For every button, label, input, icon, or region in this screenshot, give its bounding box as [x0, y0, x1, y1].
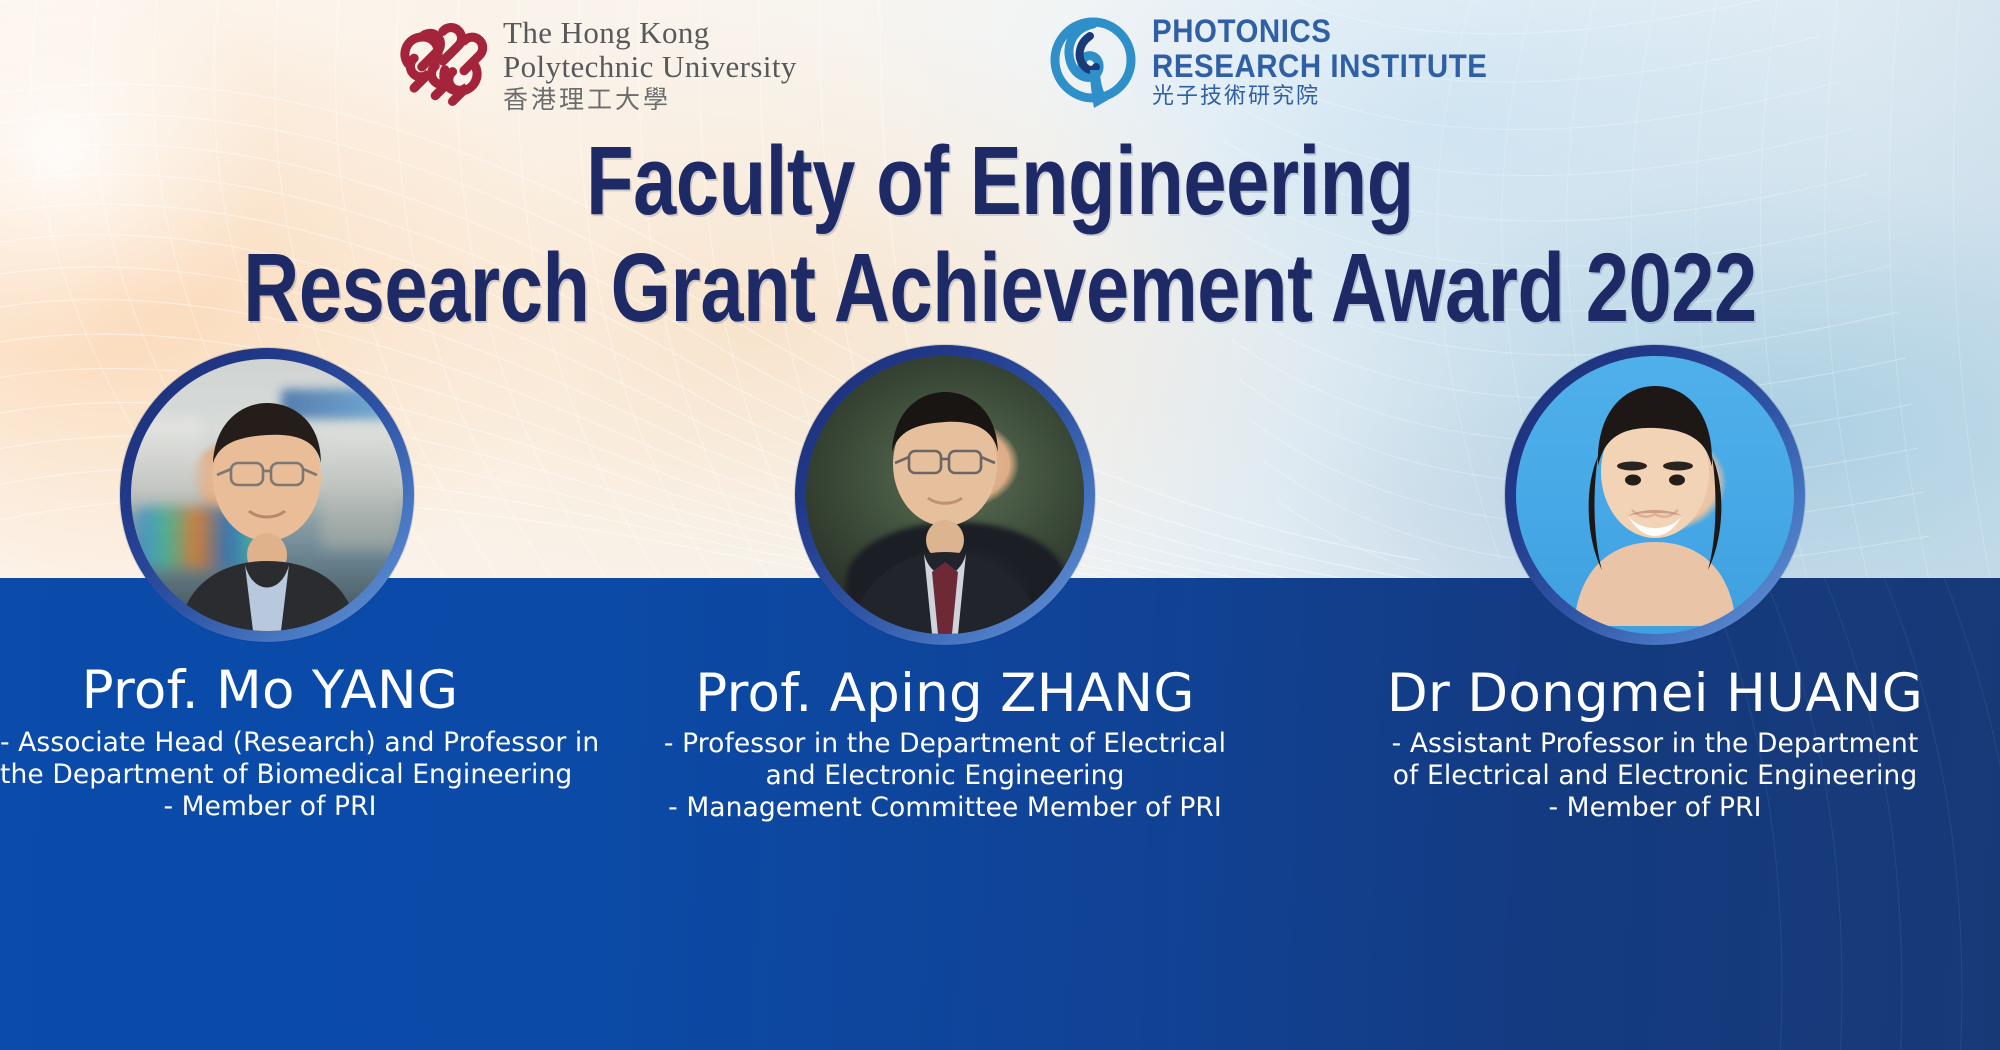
pri-logo: PHOTONICS RESEARCH INSTITUTE 光子技術研究院	[1050, 14, 1517, 110]
polyu-line2: Polytechnic University	[503, 51, 797, 82]
awardee-card-mo-yang: Prof. Mo YANG - Associate Head (Research…	[0, 348, 540, 822]
pri-line1: PHOTONICS	[1152, 15, 1487, 48]
caption-line: - Management Committee Member of PRI	[645, 792, 1245, 824]
caption-line: and Electronic Engineering	[645, 760, 1245, 792]
portrait-figure	[131, 359, 403, 631]
polyu-wordmark: The Hong Kong Polytechnic University 香港理…	[503, 17, 797, 112]
portrait-photo	[131, 359, 403, 631]
portrait-figure	[806, 356, 1084, 634]
caption-line: - Assistant Professor in the Department	[1325, 728, 1985, 760]
pri-line2: RESEARCH INSTITUTE	[1152, 50, 1487, 83]
awardee-name: Prof. Aping ZHANG	[645, 667, 1245, 720]
awardee-card-dongmei-huang: Dr Dongmei HUANG - Assistant Professor i…	[1325, 345, 1985, 823]
awardee-caption: - Assistant Professor in the Department …	[1325, 728, 1985, 823]
portrait-ring	[1505, 345, 1805, 645]
awardee-caption: - Associate Head (Research) and Professo…	[0, 727, 540, 822]
polyu-chinese: 香港理工大學	[503, 87, 797, 112]
caption-line: - Member of PRI	[1325, 792, 1985, 824]
title-line-1: Faculty of Engineering	[200, 132, 1800, 231]
award-poster: The Hong Kong Polytechnic University 香港理…	[0, 0, 2000, 1050]
polyu-logo: The Hong Kong Polytechnic University 香港理…	[393, 16, 797, 112]
title-line-2: Research Grant Achievement Award 2022	[200, 239, 1800, 338]
logo-row: The Hong Kong Polytechnic University 香港理…	[0, 0, 2000, 128]
portrait-mo-yang	[131, 359, 403, 631]
portrait-ring	[795, 345, 1095, 645]
caption-line: of Electrical and Electronic Engineering	[1325, 760, 1985, 792]
awardee-name: Dr Dongmei HUANG	[1325, 667, 1985, 720]
polyu-line1: The Hong Kong	[503, 17, 797, 48]
poster-title: Faculty of Engineering Research Grant Ac…	[0, 132, 2000, 338]
caption-line: - Member of PRI	[0, 791, 540, 823]
pri-chinese: 光子技術研究院	[1152, 86, 1517, 108]
caption-line: the Department of Biomedical Engineering	[0, 759, 540, 791]
portrait-figure	[1516, 356, 1794, 634]
awardee-card-aping-zhang: Prof. Aping ZHANG - Professor in the Dep…	[645, 345, 1245, 823]
pri-wordmark: PHOTONICS RESEARCH INSTITUTE 光子技術研究院	[1152, 15, 1517, 109]
portrait-aping-zhang	[806, 356, 1084, 634]
awardee-name: Prof. Mo YANG	[0, 664, 540, 717]
portrait-ring	[120, 348, 414, 642]
portrait-photo	[1516, 356, 1794, 634]
portrait-dongmei-huang	[1516, 356, 1794, 634]
awardee-caption: - Professor in the Department of Electri…	[645, 728, 1245, 823]
polyu-knot-icon	[393, 16, 489, 112]
pri-photonics-p-icon	[1050, 14, 1136, 110]
portrait-photo	[806, 356, 1084, 634]
caption-line: - Professor in the Department of Electri…	[645, 728, 1245, 760]
caption-line: - Associate Head (Research) and Professo…	[0, 727, 540, 759]
